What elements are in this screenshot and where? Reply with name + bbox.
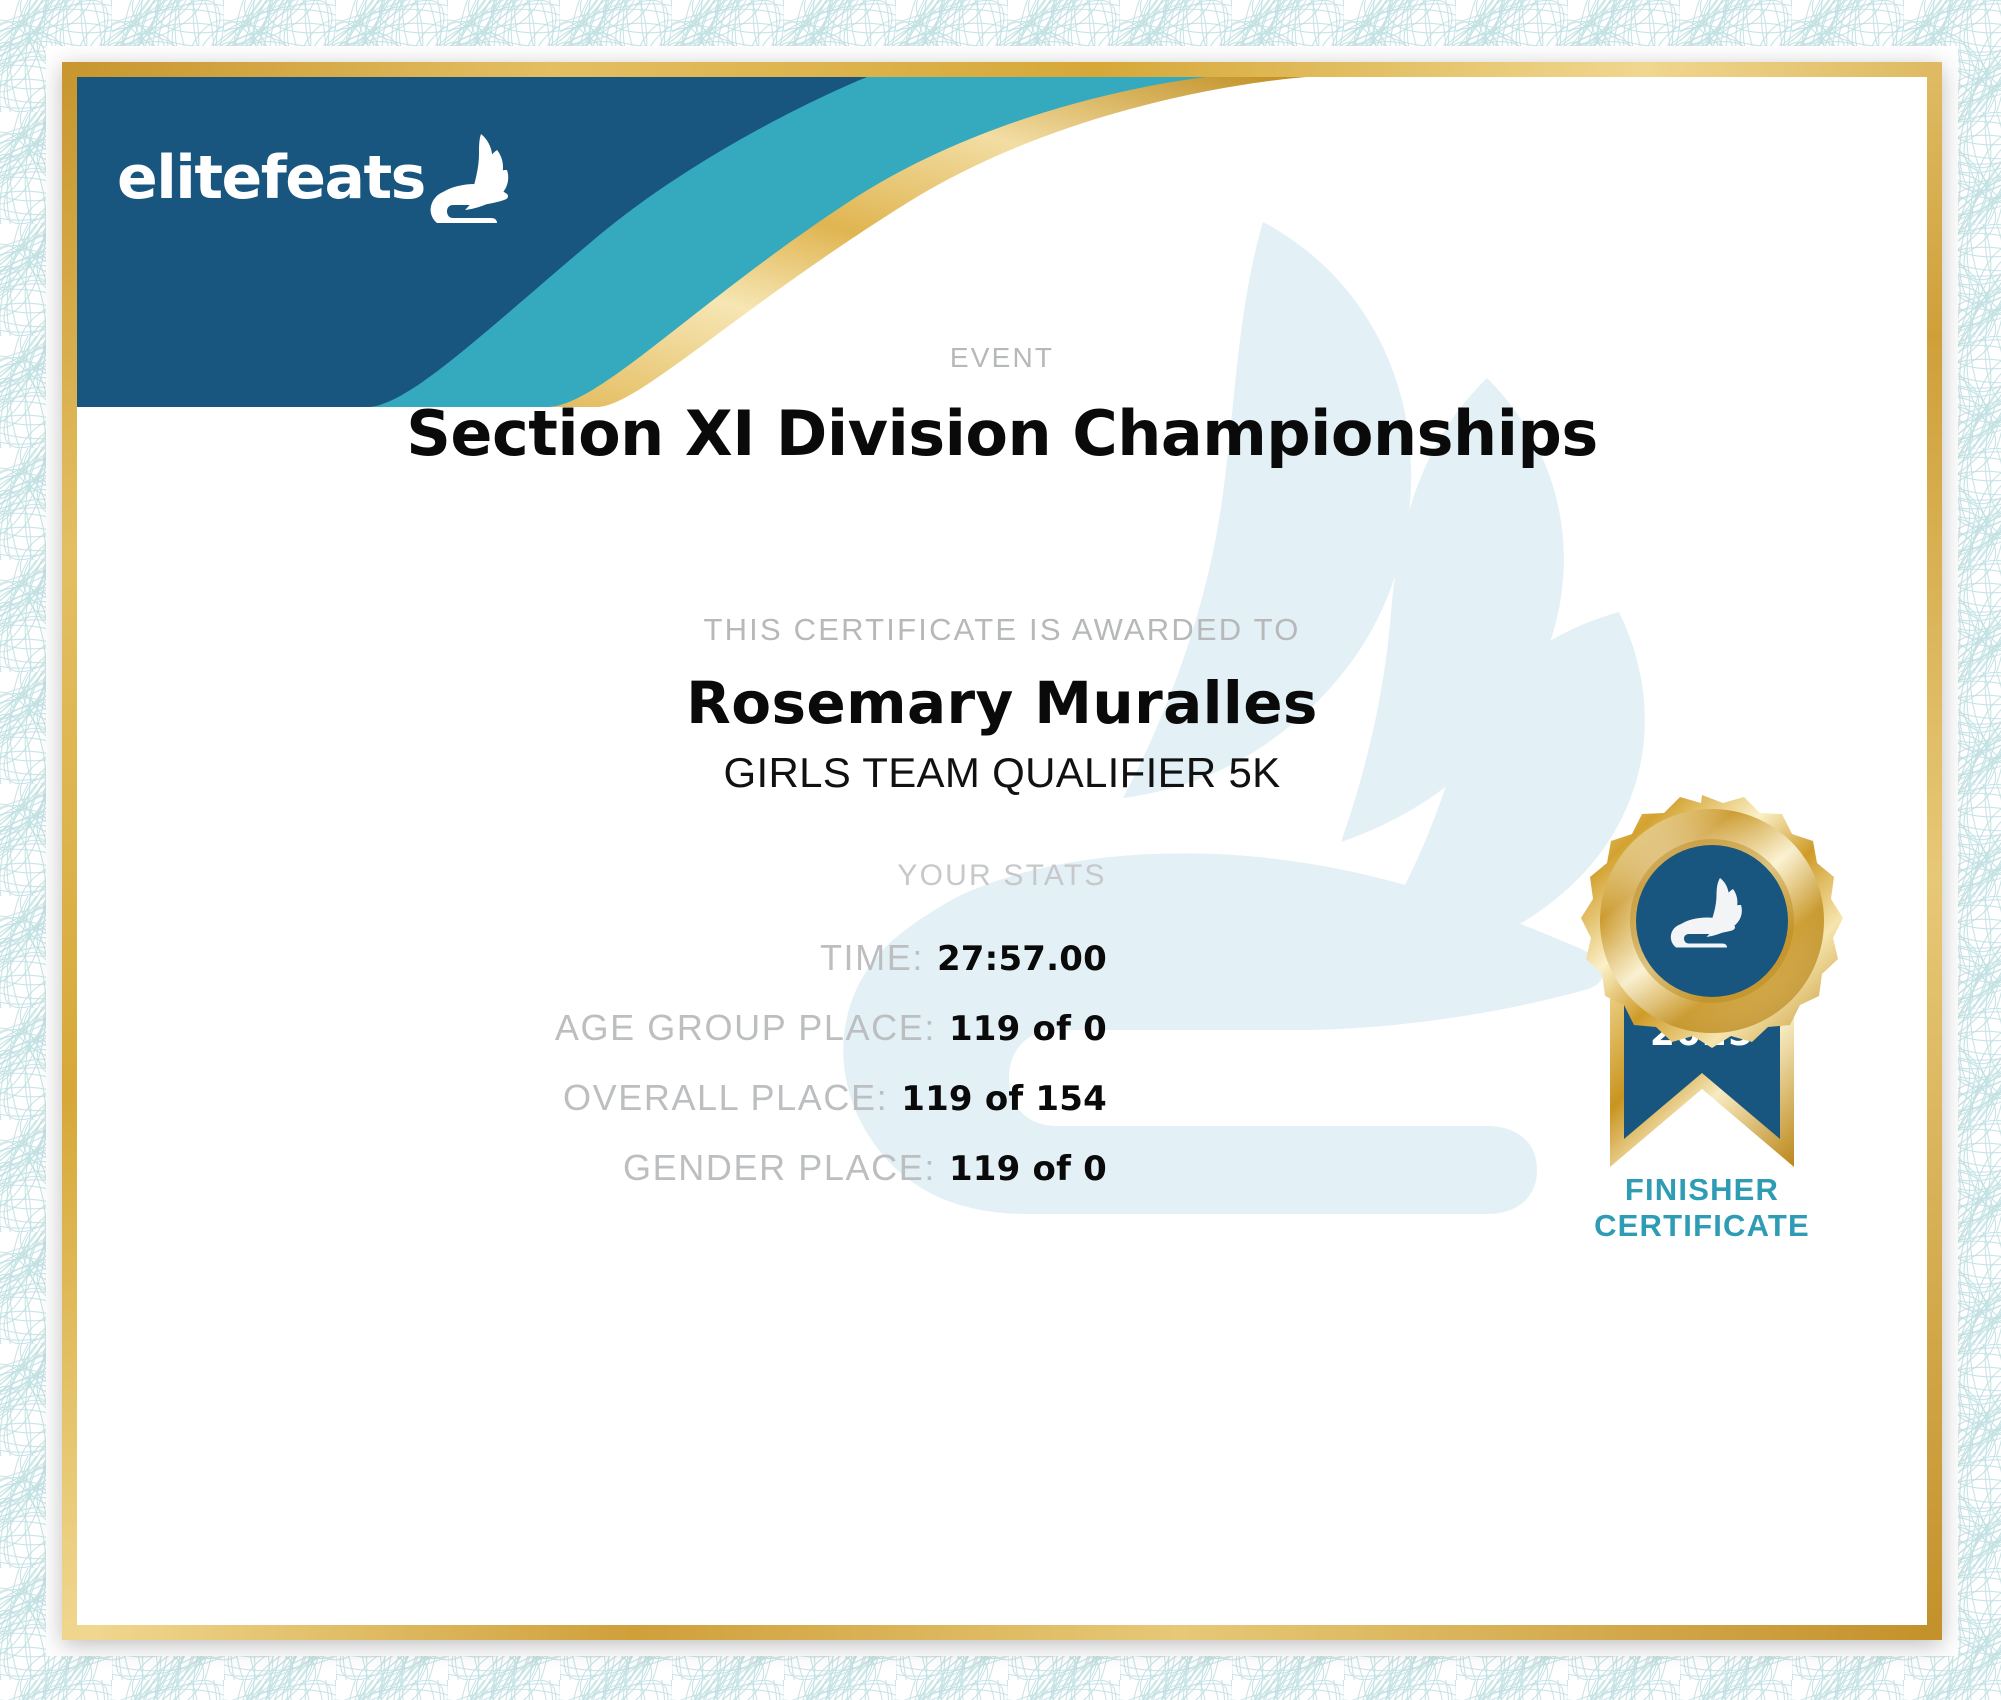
winged-foot-icon	[429, 132, 511, 224]
badge-caption-line1: FINISHER	[1532, 1172, 1872, 1208]
stat-row-gender-place: GENDER PLACE: 119 of 0	[77, 1147, 1107, 1217]
finisher-medal-badge: 2025	[1532, 777, 1872, 1257]
certificate-page: elitefeats EVENT Section XI Division Cha…	[0, 0, 2001, 1700]
logo-wordmark: elitefeats	[117, 148, 425, 208]
stat-key: TIME:	[820, 937, 924, 979]
stat-row-age-group-place: AGE GROUP PLACE: 119 of 0	[77, 1007, 1107, 1077]
stat-row-overall-place: OVERALL PLACE: 119 of 154	[77, 1077, 1107, 1147]
stat-key: AGE GROUP PLACE:	[555, 1007, 936, 1049]
awarded-to-label: THIS CERTIFICATE IS AWARDED TO	[77, 612, 1927, 648]
stat-key: GENDER PLACE:	[623, 1147, 936, 1189]
stats-list: TIME: 27:57.00 AGE GROUP PLACE: 119 of 0…	[77, 937, 1107, 1217]
certificate-card: elitefeats EVENT Section XI Division Cha…	[62, 62, 1942, 1640]
badge-caption: FINISHER CERTIFICATE	[1532, 1172, 1872, 1243]
badge-caption-line2: CERTIFICATE	[1532, 1208, 1872, 1244]
stat-key: OVERALL PLACE:	[563, 1077, 888, 1119]
recipient-name: Rosemary Muralles	[77, 669, 1927, 737]
event-title: Section XI Division Championships	[77, 397, 1927, 470]
stat-value: 119 of 0	[949, 1009, 1107, 1049]
event-label: EVENT	[77, 342, 1927, 374]
stat-value: 119 of 154	[901, 1079, 1107, 1119]
stat-row-time: TIME: 27:57.00	[77, 937, 1107, 1007]
stat-value: 27:57.00	[937, 939, 1107, 979]
stat-value: 119 of 0	[949, 1149, 1107, 1189]
elitefeats-logo: elitefeats	[117, 132, 511, 224]
